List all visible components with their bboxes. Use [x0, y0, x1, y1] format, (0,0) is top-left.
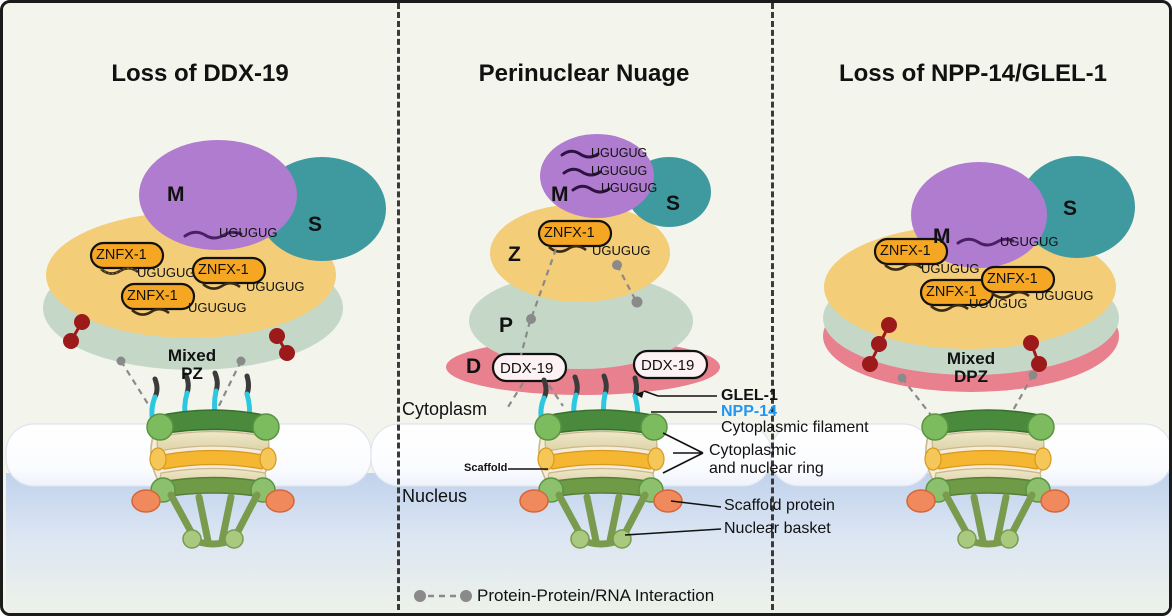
zone-letter-left-S: S — [308, 213, 322, 237]
rna-label-mid-0: UGUGUG — [591, 146, 647, 160]
ring-line2: and nuclear ring — [709, 460, 824, 477]
figure-root: Loss of DDX-19 Perinuclear Nuage Loss of… — [0, 0, 1172, 616]
label-nucleus: Nucleus — [402, 486, 467, 507]
zone-letter-mid-P: P — [499, 314, 513, 338]
znfx-label-right-3: ZNFX-1 — [987, 271, 1038, 287]
znfx-label-left-1: ZNFX-1 — [96, 247, 147, 263]
mixed-label-right: Mixed DPZ — [916, 350, 1026, 387]
ring-line1: Cytoplasmic — [709, 442, 796, 459]
callout-nuclear-basket: Nuclear basket — [724, 520, 831, 538]
rna-label-right-2: UGUGUG — [969, 296, 1028, 311]
zone-letter-mid-D: D — [466, 355, 481, 379]
callout-cytoplasmic-and-nuclear-ring: Cytoplasmic and nuclear ring — [709, 442, 824, 478]
mixed-label-left-line2: PZ — [181, 364, 203, 383]
zone-letter-mid-Z: Z — [508, 243, 521, 267]
rna-label-right-1: UGUGUG — [921, 261, 980, 276]
znfx-label-mid-1: ZNFX-1 — [544, 225, 595, 241]
mixed-label-right-line2: DPZ — [954, 367, 988, 386]
zone-letter-left-M: M — [167, 183, 185, 207]
mixed-label-left: Mixed PZ — [137, 347, 247, 384]
rna-label-left-0: UGUGUG — [219, 225, 278, 240]
rna-label-left-3: UGUGUG — [246, 279, 305, 294]
legend-label: Protein-Protein/RNA Interaction — [477, 586, 714, 606]
znfx-label-left-3: ZNFX-1 — [198, 262, 249, 278]
zone-letter-mid-M: M — [551, 183, 569, 207]
rna-label-left-2: UGUGUG — [188, 300, 247, 315]
ddx19-label-mid-1: DDX-19 — [500, 360, 553, 377]
znfx-label-right-1: ZNFX-1 — [880, 243, 931, 259]
mixed-label-right-line1: Mixed — [947, 349, 995, 368]
znfx-label-left-2: ZNFX-1 — [127, 288, 178, 304]
callout-scaffold-protein: Scaffold protein — [724, 497, 835, 515]
mixed-label-left-line1: Mixed — [168, 346, 216, 365]
rna-label-mid-3: UGUGUG — [592, 243, 651, 258]
zone-letter-right-S: S — [1063, 197, 1077, 221]
label-cytoplasm: Cytoplasm — [402, 399, 487, 420]
ddx19-label-mid-2: DDX-19 — [641, 357, 694, 374]
zone-letter-right-M: M — [933, 225, 951, 249]
zone-letter-mid-S: S — [666, 192, 680, 216]
rna-label-right-3: UGUGUG — [1035, 288, 1094, 303]
rna-label-mid-2: UGUGUG — [601, 181, 657, 195]
panel-divider-1 — [397, 3, 400, 616]
rna-label-left-1: UGUGUG — [137, 265, 196, 280]
callout-cytoplasmic-filament: Cytoplasmic filament — [721, 419, 869, 437]
rna-label-mid-1: UGUGUG — [591, 164, 647, 178]
callout-scaffold: Scaffold — [464, 462, 507, 474]
rna-label-right-0: UGUGUG — [1000, 234, 1059, 249]
